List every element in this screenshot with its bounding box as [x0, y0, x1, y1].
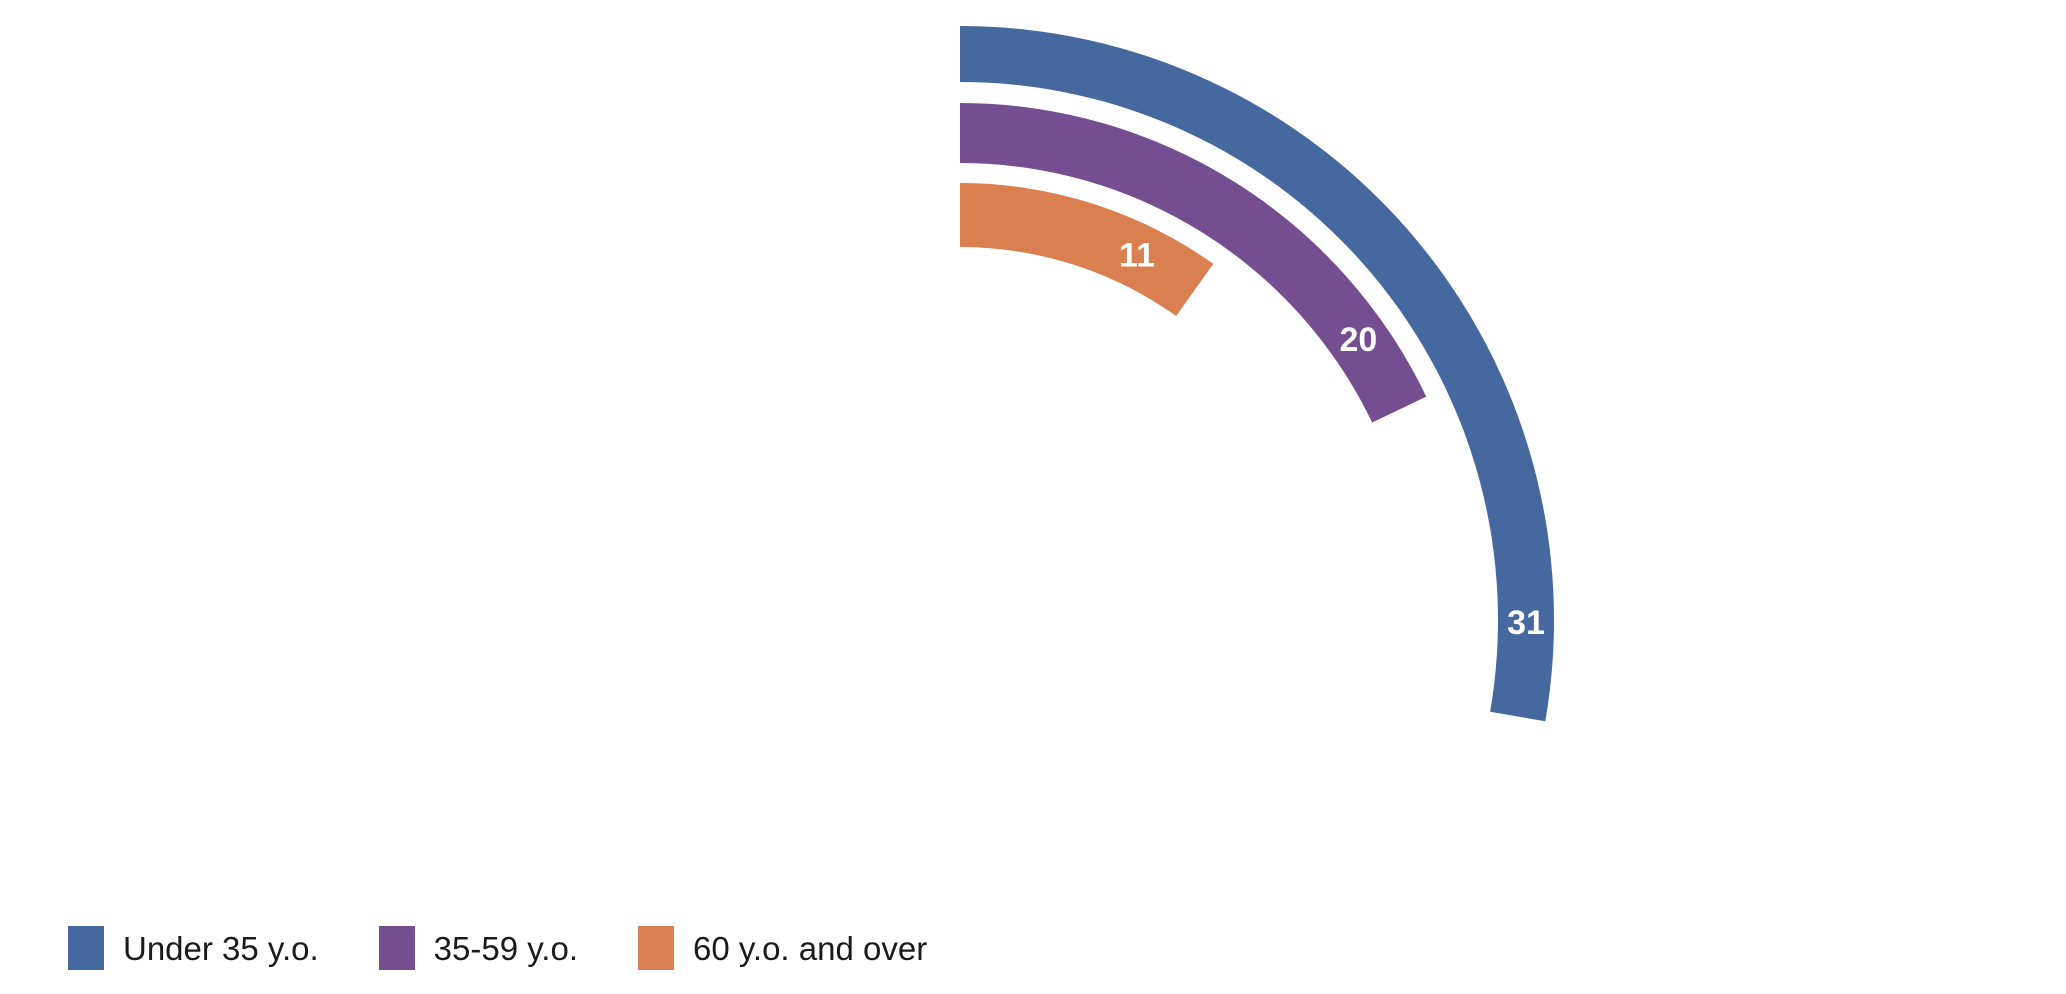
legend-swatch-icon-60-and-over [638, 926, 674, 970]
radial-bar-chart: 312011 Under 35 y.o. 35-59 y.o. 60 y.o. … [0, 0, 2066, 994]
legend-label-under-35: Under 35 y.o. [123, 932, 319, 965]
legend-label-60-and-over: 60 y.o. and over [693, 932, 927, 965]
legend-item-35-59[interactable]: 35-59 y.o. [379, 926, 578, 970]
legend-swatch-icon-under-35 [68, 926, 104, 970]
radial-chart-svg: 312011 [0, 0, 2066, 994]
chart-legend: Under 35 y.o. 35-59 y.o. 60 y.o. and ove… [68, 926, 987, 970]
legend-swatch-icon-35-59 [379, 926, 415, 970]
legend-item-60-and-over[interactable]: 60 y.o. and over [638, 926, 927, 970]
legend-label-35-59: 35-59 y.o. [434, 932, 578, 965]
arc-value-label-1: 31 [1507, 604, 1545, 642]
arc-layer [960, 26, 1554, 721]
arc-value-label-3: 11 [1119, 237, 1155, 275]
legend-item-under-35[interactable]: Under 35 y.o. [68, 926, 319, 970]
arc-value-label-2: 20 [1340, 321, 1378, 359]
